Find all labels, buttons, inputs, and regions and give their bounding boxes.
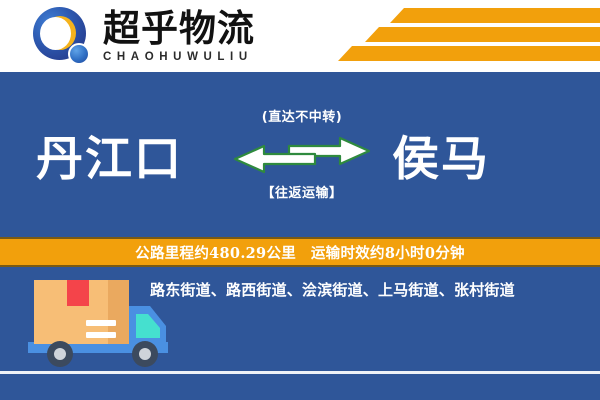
round-trip-note: 【往返运输】 [232, 184, 372, 204]
banner-header: 超乎物流 CHAOHUWULIU [0, 0, 600, 72]
brand-logo-icon [33, 7, 95, 65]
arrow-svg [232, 136, 372, 174]
stripe-1 [390, 8, 600, 23]
brand-wordmark: 超乎物流 CHAOHUWULIU [103, 8, 343, 64]
logo-small-circle-icon [68, 43, 90, 65]
delivery-truck-icon [20, 272, 180, 372]
truck-box-label [67, 280, 89, 306]
truck-box-stripe-1 [86, 320, 116, 326]
main-panel: 丹江口 (直达不中转) 【往返运输】 侯马 公路里程约480.29公里 运输时效… [0, 72, 600, 400]
origin-city: 丹江口 [36, 130, 183, 190]
stripe-3 [338, 46, 600, 61]
route-info-bar: 公路里程约480.29公里 运输时效约8小时0分钟 [0, 237, 600, 267]
route-info-text: 公路里程约480.29公里 运输时效约8小时0分钟 [135, 242, 465, 263]
truck-svg [20, 272, 180, 372]
coverage-area-text: 路东街道、路西街道、浍滨街道、上马街道、张村街道 [150, 279, 515, 300]
logistics-route-banner: 超乎物流 CHAOHUWULIU 丹江口 (直达不中转) [0, 0, 600, 400]
logo-moon-cutout [40, 17, 71, 50]
ground-line [0, 371, 600, 374]
bidirectional-arrow-icon [232, 136, 372, 174]
brand-name-cn: 超乎物流 [103, 8, 343, 49]
stripe-2 [365, 27, 600, 42]
route-middle-group: (直达不中转) 【往返运输】 [232, 108, 372, 230]
decorative-stripes [320, 8, 600, 66]
destination-city: 侯马 [392, 130, 490, 190]
coverage-area-row: 路东街道、路西街道、浍滨街道、上马街道、张村街道 [150, 276, 590, 302]
truck-wheel-front-hub [139, 348, 151, 360]
truck-wheel-rear-hub [54, 348, 66, 360]
route-row: 丹江口 (直达不中转) 【往返运输】 侯马 [0, 108, 600, 230]
truck-box-stripe-2 [86, 332, 116, 338]
brand-name-en: CHAOHUWULIU [103, 50, 343, 64]
direct-route-note: (直达不中转) [232, 108, 372, 128]
